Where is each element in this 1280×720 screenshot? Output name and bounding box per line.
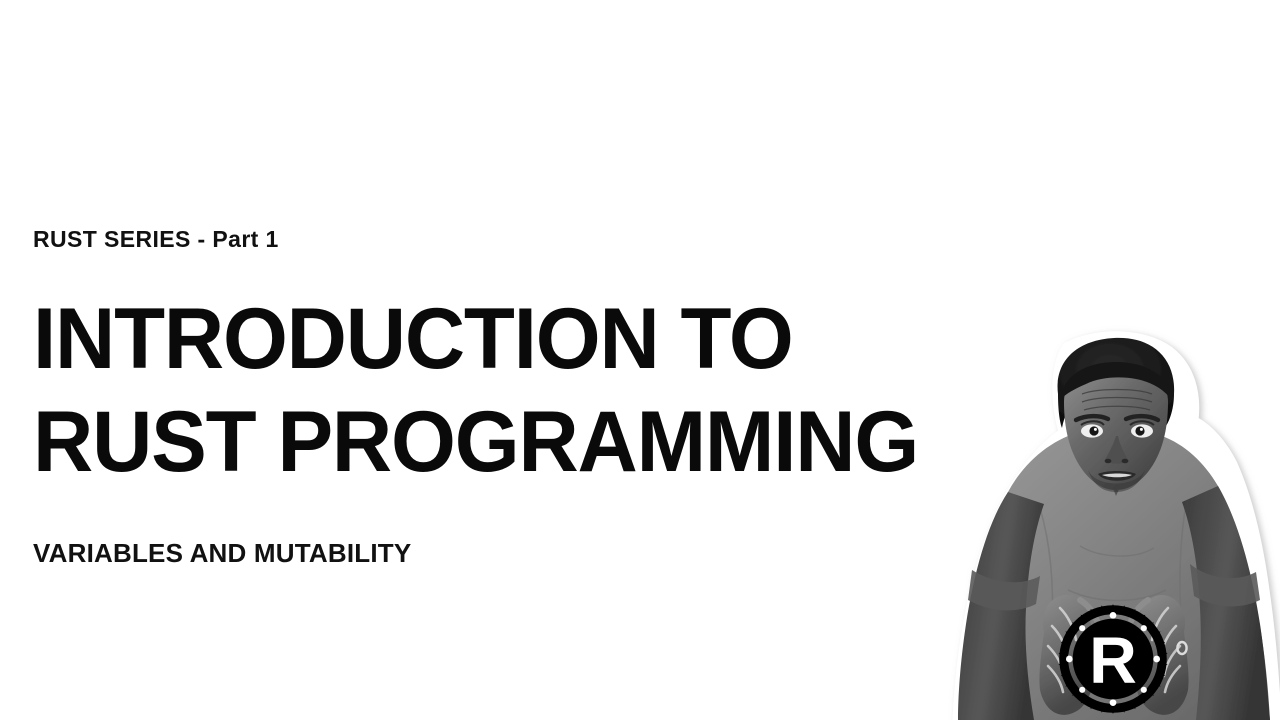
- page-title-line-1: INTRODUCTION TO: [33, 288, 935, 391]
- rust-logo-letter: R: [1089, 624, 1137, 698]
- title-card: R RUST SERIES - Part 1 INTRODUCTION TO R…: [0, 0, 1280, 720]
- page-title: INTRODUCTION TO RUST PROGRAMMING: [33, 288, 935, 494]
- rust-gear-logo-icon: R: [1057, 603, 1169, 715]
- rust-gear-logo: R: [1057, 603, 1169, 715]
- title-text-block: RUST SERIES - Part 1 INTRODUCTION TO RUS…: [33, 228, 963, 566]
- page-title-line-2: RUST PROGRAMMING: [33, 391, 935, 494]
- series-eyebrow: RUST SERIES - Part 1: [33, 228, 963, 251]
- topic-subtitle: VARIABLES AND MUTABILITY: [33, 540, 963, 566]
